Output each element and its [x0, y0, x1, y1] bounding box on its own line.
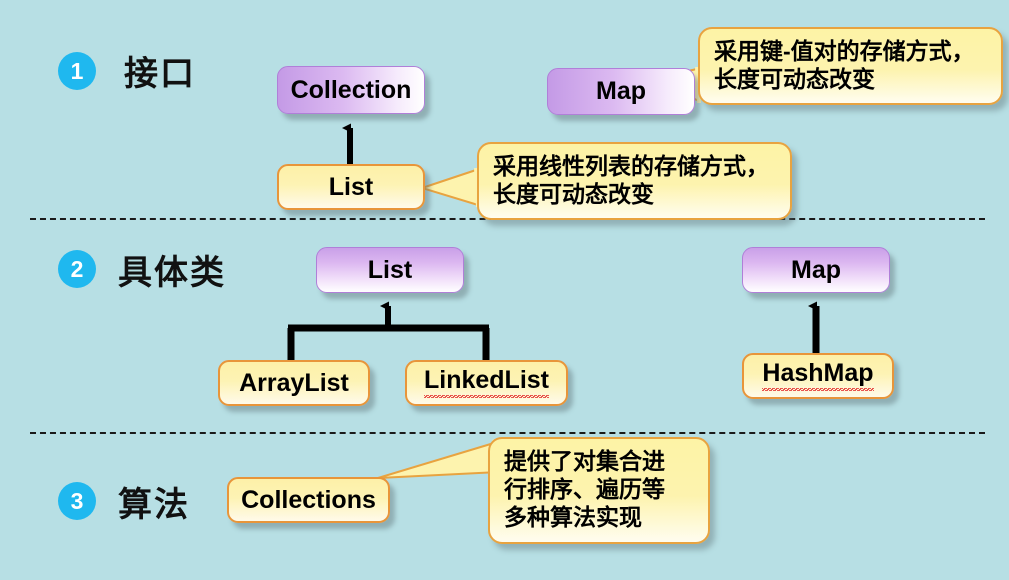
node-list-class-label: List: [368, 256, 412, 285]
node-linkedlist-label: LinkedList: [424, 366, 549, 400]
node-linkedlist[interactable]: LinkedList: [405, 360, 568, 406]
node-hashmap[interactable]: HashMap: [742, 353, 894, 399]
callout-list-note: 采用线性列表的存储方式， 长度可动态改变: [477, 142, 792, 220]
callout-map-note: 采用键-值对的存储方式， 长度可动态改变: [698, 27, 1003, 105]
callout-collections-note-line-1: 提供了对集合进: [504, 447, 694, 475]
section-title-3: 算法: [118, 477, 190, 526]
node-list-interface-label: List: [329, 173, 373, 202]
node-collection[interactable]: Collection: [277, 66, 425, 114]
node-collection-label: Collection: [291, 76, 412, 105]
node-map-class[interactable]: Map: [742, 247, 890, 293]
node-arraylist[interactable]: ArrayList: [218, 360, 370, 406]
node-list-interface[interactable]: List: [277, 164, 425, 210]
section-badge-3: 3: [58, 482, 96, 520]
callout-collections-note: 提供了对集合进 行排序、遍历等 多种算法实现: [488, 437, 710, 544]
callout-collections-note-line-3: 多种算法实现: [504, 503, 694, 531]
callout-map-note-line-1: 采用键-值对的存储方式，: [714, 37, 987, 65]
callout-collections-note-line-2: 行排序、遍历等: [504, 475, 694, 503]
node-hashmap-label: HashMap: [762, 359, 873, 393]
callout-list-note-line-1: 采用线性列表的存储方式，: [493, 152, 776, 180]
callout-map-note-line-2: 长度可动态改变: [714, 65, 987, 93]
section-separator-2: [30, 432, 985, 434]
list-note-tail: [422, 168, 478, 207]
node-collections-label: Collections: [241, 486, 376, 515]
section-badge-2: 2: [58, 250, 96, 288]
node-arraylist-label: ArrayList: [239, 369, 349, 398]
section-title-2: 具体类: [118, 245, 226, 294]
section-title-1: 接口: [124, 46, 196, 95]
diagram-canvas: 1 接口 Collection Map List 采用键-值对的存储方式， 长度…: [0, 0, 1009, 580]
node-map-class-label: Map: [791, 256, 841, 285]
section-badge-1: 1: [58, 52, 96, 90]
callout-list-note-line-2: 长度可动态改变: [493, 180, 776, 208]
node-map-interface-label: Map: [596, 77, 646, 106]
node-collections[interactable]: Collections: [227, 477, 390, 523]
edge-tree-bar: [288, 306, 489, 328]
node-map-interface[interactable]: Map: [547, 68, 695, 115]
node-list-class[interactable]: List: [316, 247, 464, 293]
